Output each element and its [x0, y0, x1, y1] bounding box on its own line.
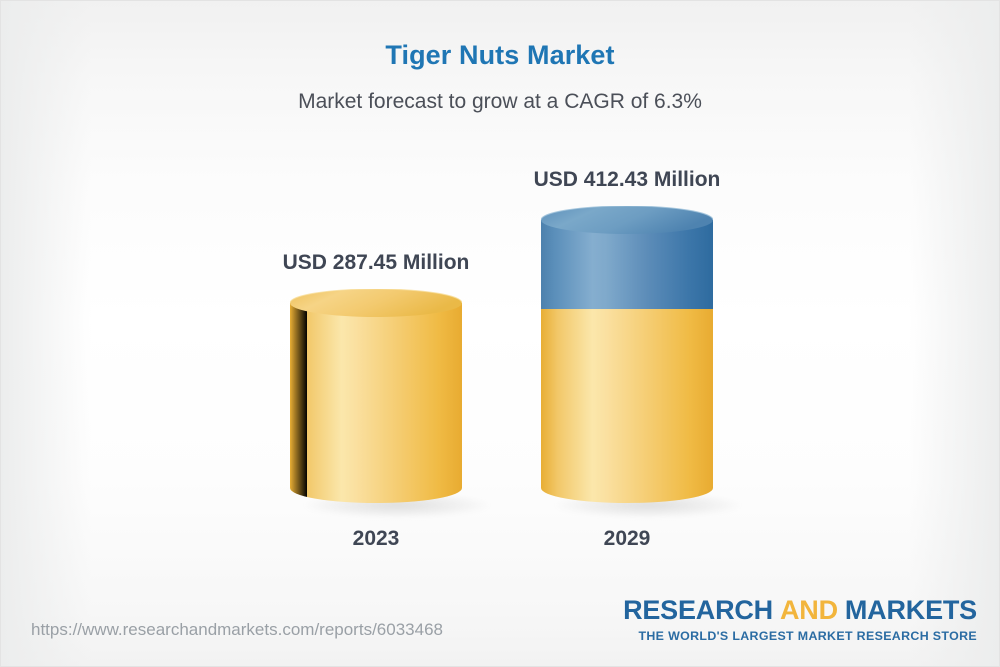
logo-wordmark: RESEARCHANDMARKETS — [623, 597, 977, 624]
bar-category-label-2029: 2029 — [604, 527, 651, 551]
bar-cylinder-2023[interactable] — [290, 289, 462, 516]
logo-word-research: RESEARCH — [623, 595, 773, 625]
report-url[interactable]: https://www.researchandmarkets.com/repor… — [31, 620, 443, 640]
logo-word-and: AND — [780, 595, 838, 625]
chart-canvas: Tiger Nuts Market Market forecast to gro… — [0, 0, 1000, 667]
bar-value-label-2023: USD 287.45 Million — [283, 251, 470, 275]
bar-category-label-2023: 2023 — [353, 527, 400, 551]
bar-cylinder-2029[interactable] — [541, 206, 713, 516]
logo-tagline: THE WORLD'S LARGEST MARKET RESEARCH STOR… — [623, 630, 977, 642]
bar-value-label-2029: USD 412.43 Million — [534, 168, 721, 192]
research-and-markets-logo[interactable]: RESEARCHANDMARKETS THE WORLD'S LARGEST M… — [623, 597, 977, 642]
plot-area: USD 287.45 Million — [1, 1, 1000, 601]
logo-word-markets: MARKETS — [845, 595, 977, 625]
